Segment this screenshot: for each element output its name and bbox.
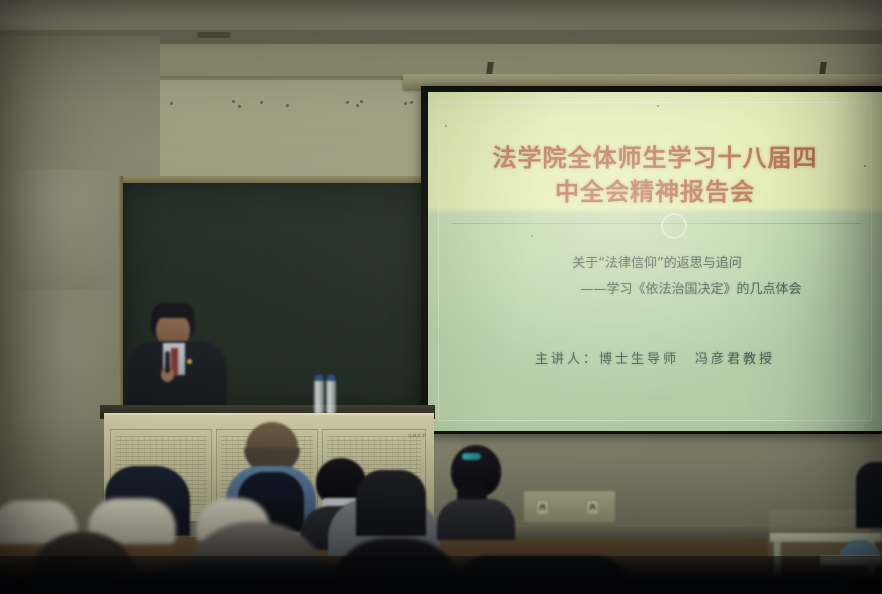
slide-title: 法学院全体师生学习十八届四 中全会精神报告会 bbox=[439, 141, 871, 209]
presenter-hair-front bbox=[152, 303, 194, 318]
hair-clip-icon bbox=[462, 453, 481, 460]
chalkboard-frame-left bbox=[118, 176, 123, 414]
power-outlet bbox=[586, 500, 599, 515]
audience-dark-jacket-right bbox=[356, 470, 426, 536]
foreground-shadow bbox=[0, 556, 882, 594]
slide-subtitle-line-2: ——学习《依法治国决定》的几点体会 bbox=[439, 277, 871, 303]
water-bottle-1 bbox=[314, 380, 324, 414]
slide-speaker-line: 主讲人：博士生导师 冯彦君教授 bbox=[439, 348, 871, 367]
water-bottle-2 bbox=[326, 380, 336, 414]
audience-woman-teal-clip bbox=[437, 445, 515, 540]
slide-divider-rule bbox=[451, 223, 861, 224]
podium-label: 吉林大学 bbox=[408, 433, 426, 439]
slide-subtitle-line-1: 关于“法律信仰”的返思与追问 bbox=[439, 251, 871, 277]
slide-subtitle: 关于“法律信仰”的返思与追问 ——学习《依法治国决定》的几点体会 bbox=[439, 251, 871, 303]
audience-far-right-person bbox=[856, 462, 882, 528]
presenter bbox=[125, 303, 230, 415]
power-outlet bbox=[536, 500, 549, 515]
slide-title-line-2: 中全会精神报告会 bbox=[555, 178, 755, 206]
lecture-hall-photo: 法学院全体师生学习十八届四 中全会精神报告会 关于“法律信仰”的返思与追问 ——… bbox=[0, 0, 882, 594]
screen-speck bbox=[445, 125, 447, 127]
slide-title-line-1: 法学院全体师生学习十八届四 bbox=[493, 144, 818, 172]
slide-border: 法学院全体师生学习十八届四 中全会精神报告会 关于“法律信仰”的返思与追问 ——… bbox=[438, 102, 872, 421]
chalkboard-frame-top bbox=[118, 176, 433, 183]
screen-speck bbox=[657, 105, 659, 107]
screen-speck bbox=[864, 165, 866, 167]
slide-circle-ornament bbox=[661, 213, 687, 239]
microphone bbox=[165, 351, 170, 373]
screen-speck bbox=[531, 235, 533, 237]
wall-outlet-plate[interactable] bbox=[523, 490, 616, 523]
audience-shoulders bbox=[437, 499, 515, 540]
left-wall-scuff bbox=[16, 170, 126, 300]
ceiling-vent bbox=[197, 32, 231, 38]
projection-screen: 法学院全体师生学习十八届四 中全会精神报告会 关于“法律信仰”的返思与追问 ——… bbox=[428, 92, 882, 431]
ceiling-soffit bbox=[155, 44, 882, 78]
presenter-lapel-badge bbox=[187, 359, 192, 364]
